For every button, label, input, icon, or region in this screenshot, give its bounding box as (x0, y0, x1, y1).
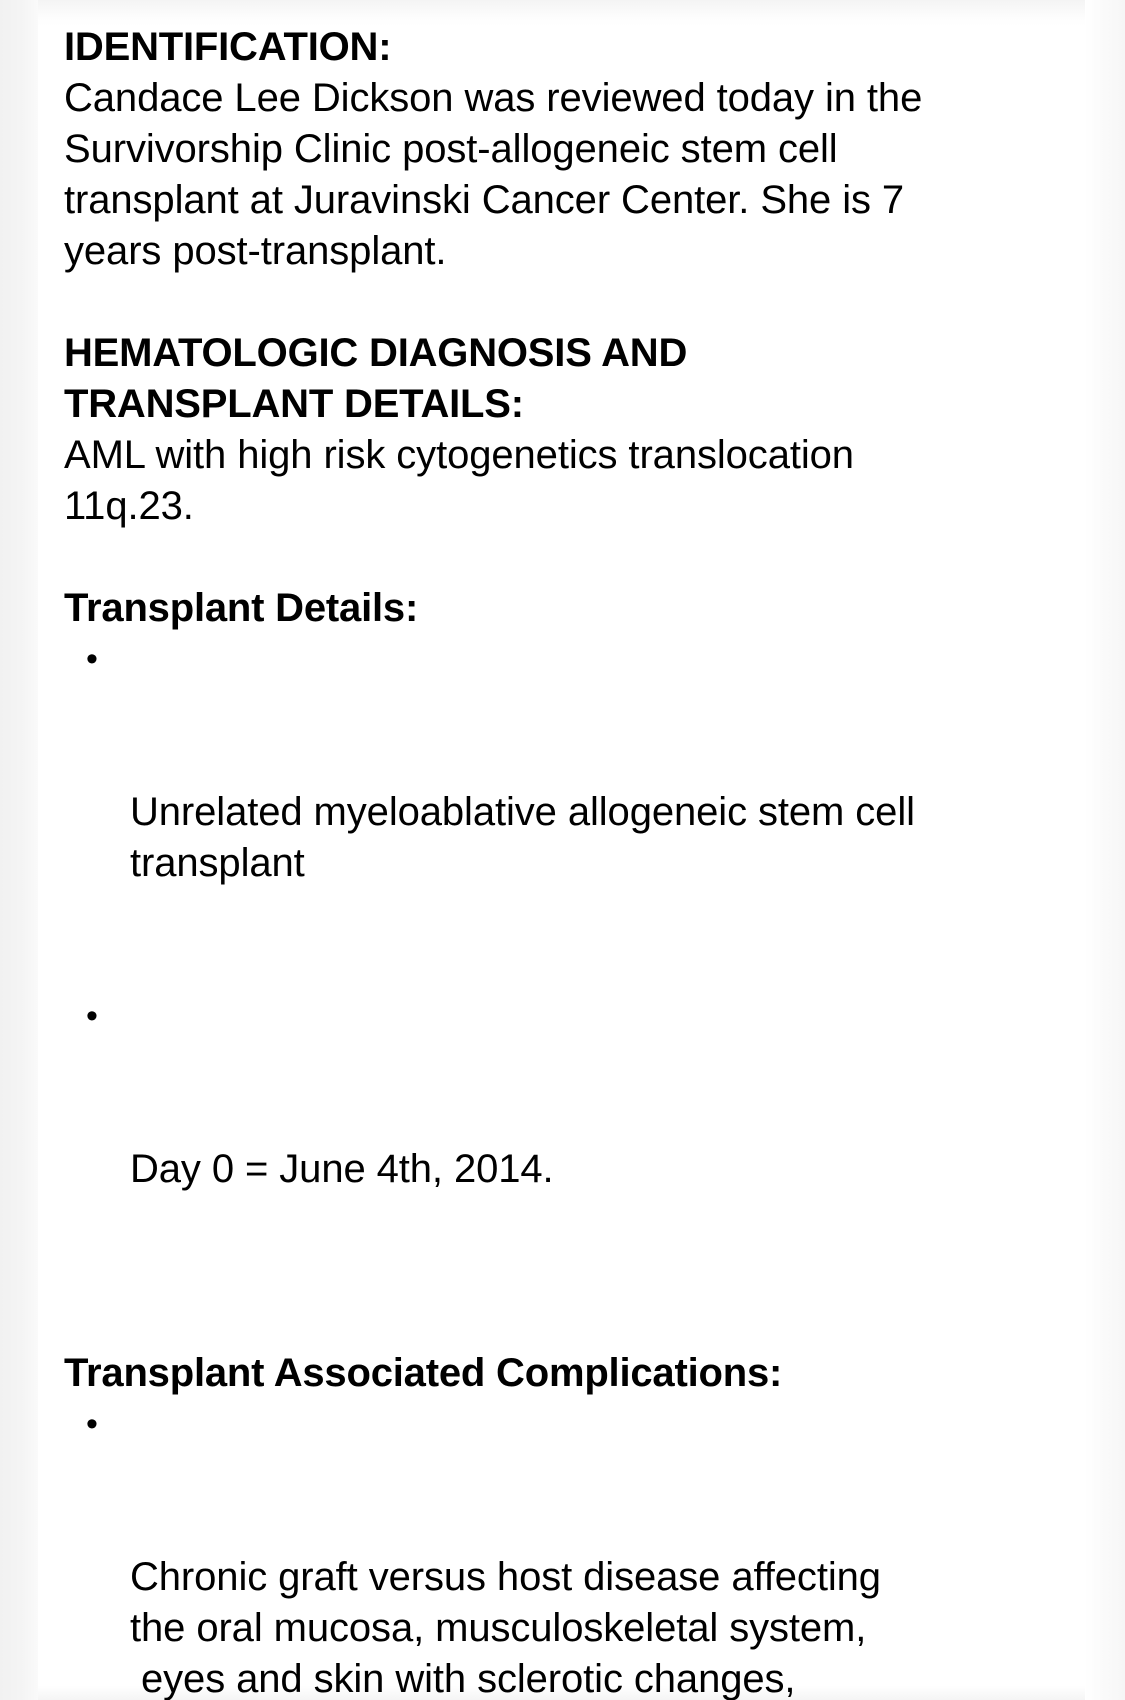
bullet-dot-icon: • (86, 634, 108, 685)
section-gap-3 (64, 1297, 1059, 1348)
section-hematologic-diagnosis: HEMATOLOGIC DIAGNOSIS AND TRANSPLANT DET… (64, 328, 1059, 532)
page-right-edge-shadow (1085, 0, 1125, 1700)
heading-transplant-details: Transplant Details: (64, 583, 1059, 634)
section-identification: IDENTIFICATION: Candace Lee Dickson was … (64, 22, 1059, 277)
bullet-dot-icon: • (86, 991, 108, 1042)
section-gap-2 (64, 532, 1059, 583)
list-item-label: Unrelated myeloablative allogeneic stem … (130, 787, 1059, 889)
section-gap-1 (64, 277, 1059, 328)
heading-hematologic-diagnosis: HEMATOLOGIC DIAGNOSIS AND TRANSPLANT DET… (64, 328, 1059, 430)
heading-identification: IDENTIFICATION: (64, 22, 1059, 73)
list-transplant-associated-complications: • Chronic graft versus host disease affe… (64, 1399, 1059, 1700)
list-item: • Unrelated myeloablative allogeneic ste… (64, 634, 1059, 991)
list-item-label: Chronic graft versus host disease affect… (130, 1552, 1059, 1700)
bullet-dot-icon: • (86, 1399, 108, 1450)
paragraph-identification: Candace Lee Dickson was reviewed today i… (64, 73, 1059, 277)
list-item-label: Day 0 = June 4th, 2014. (130, 1144, 1059, 1195)
note-screen: IDENTIFICATION: Candace Lee Dickson was … (0, 0, 1125, 1700)
list-transplant-details: • Unrelated myeloablative allogeneic ste… (64, 634, 1059, 1297)
heading-transplant-associated-complications: Transplant Associated Complications: (64, 1348, 1059, 1399)
list-item: • Day 0 = June 4th, 2014. (64, 991, 1059, 1297)
clinical-note-body: IDENTIFICATION: Candace Lee Dickson was … (64, 22, 1059, 1700)
paragraph-hematologic-diagnosis: AML with high risk cytogenetics transloc… (64, 430, 1059, 532)
list-item: • Chronic graft versus host disease affe… (64, 1399, 1059, 1700)
section-transplant-associated-complications: Transplant Associated Complications: • C… (64, 1348, 1059, 1700)
page-left-edge-shadow (0, 0, 38, 1700)
section-transplant-details: Transplant Details: • Unrelated myeloabl… (64, 583, 1059, 1297)
